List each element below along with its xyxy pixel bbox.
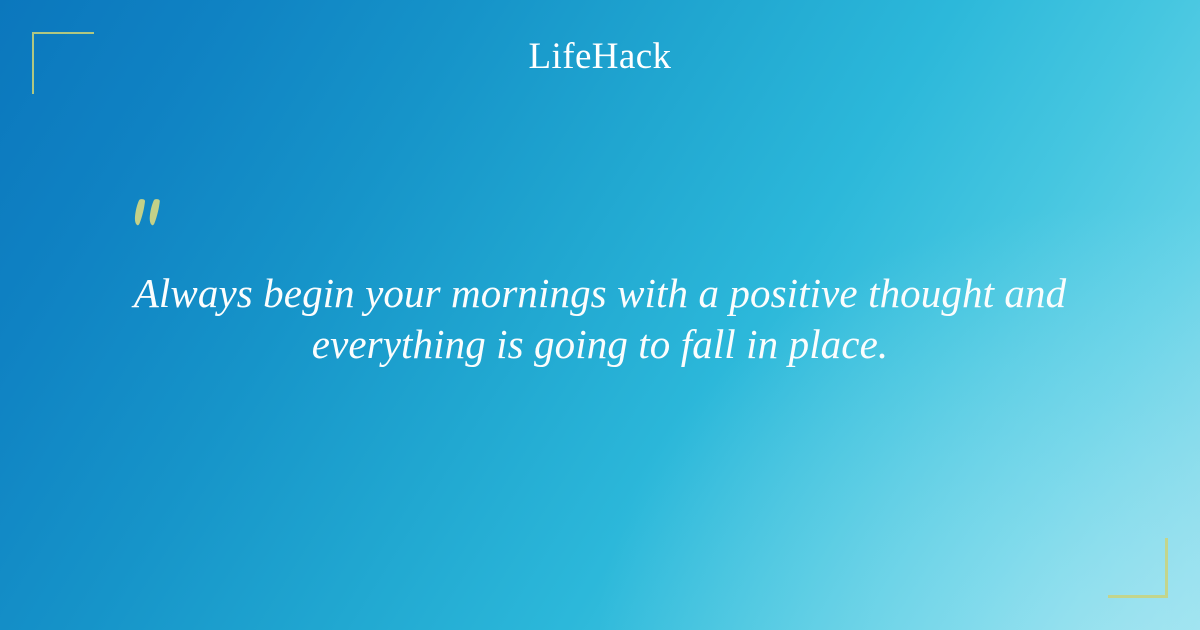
brand-logo: LifeHack xyxy=(0,38,1200,75)
quote-text: Always begin your mornings with a positi… xyxy=(100,268,1100,370)
quote-card: LifeHack Always begin your mornings with… xyxy=(0,0,1200,630)
brand-name: LifeHack xyxy=(529,38,672,75)
quote-line-1: Always begin your mornings with a positi… xyxy=(100,268,1100,319)
corner-bracket-icon-bottom-right xyxy=(1108,538,1168,598)
quote-line-2: everything is going to fall in place. xyxy=(100,319,1100,370)
double-quote-icon xyxy=(128,196,188,246)
